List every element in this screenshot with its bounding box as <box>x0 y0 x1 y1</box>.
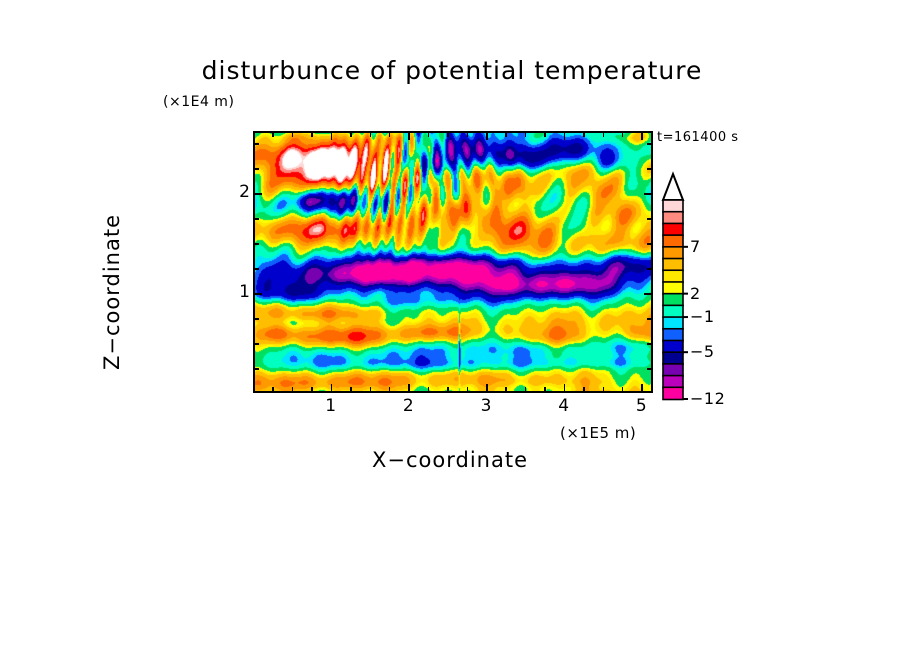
x-tick <box>486 384 488 392</box>
colorbar-swatch <box>663 340 683 352</box>
y-tick <box>254 293 262 295</box>
y-tick <box>254 143 259 145</box>
colorbar-swatch <box>663 364 683 376</box>
colorbar-tick <box>683 246 688 248</box>
y-tick-right <box>644 293 652 295</box>
colorbar[interactable]: 72−1−5−12 <box>660 166 750 406</box>
colorbar-tick-label: −12 <box>690 389 725 408</box>
x-tick-label: 2 <box>388 396 428 416</box>
x-tick <box>603 387 605 392</box>
colorbar-tick <box>683 293 688 295</box>
x-tick-top <box>311 132 313 137</box>
x-tick-top <box>370 132 372 137</box>
time-annotation: t=161400 s <box>657 130 739 145</box>
colorbar-swatch <box>663 247 683 259</box>
x-tick <box>331 384 333 392</box>
contour-plot-area[interactable] <box>253 131 653 393</box>
colorbar-swatch <box>663 352 683 364</box>
y-tick-right <box>647 268 652 270</box>
y-tick <box>254 243 259 245</box>
plot-frame <box>253 131 653 393</box>
y-tick-right <box>647 318 652 320</box>
colorbar-swatch <box>663 294 683 306</box>
x-tick-top <box>447 132 449 137</box>
x-tick-top <box>389 132 391 137</box>
x-tick-top <box>331 132 333 140</box>
colorbar-swatch <box>663 235 683 247</box>
x-tick <box>311 387 313 392</box>
y-tick-right <box>647 343 652 345</box>
x-tick-top <box>525 132 527 137</box>
y-tick-label: 1 <box>228 282 250 302</box>
x-tick <box>525 387 527 392</box>
x-tick <box>544 387 546 392</box>
colorbar-tick-label: 2 <box>690 284 701 303</box>
x-tick <box>408 384 410 392</box>
y-tick <box>254 193 262 195</box>
y-tick <box>254 368 259 370</box>
page-title: disturbunce of potential temperature <box>0 56 904 85</box>
colorbar-swatch <box>663 223 683 235</box>
y-tick-right <box>647 143 652 145</box>
y-axis-units-label: (×1E4 m) <box>163 94 234 110</box>
y-tick-label: 2 <box>228 182 250 202</box>
x-tick-top <box>505 132 507 137</box>
x-tick-top <box>583 132 585 137</box>
x-tick-top <box>428 132 430 137</box>
x-tick-top <box>350 132 352 137</box>
colorbar-swatch <box>663 387 683 399</box>
x-tick <box>292 387 294 392</box>
y-tick-right <box>644 193 652 195</box>
x-tick <box>389 387 391 392</box>
colorbar-swatch <box>663 200 683 212</box>
x-tick-top <box>603 132 605 137</box>
x-tick-top <box>486 132 488 140</box>
colorbar-swatch <box>663 305 683 317</box>
x-tick-label: 1 <box>311 396 351 416</box>
x-axis-units-label: (×1E5 m) <box>560 424 636 442</box>
x-tick-top <box>622 132 624 137</box>
colorbar-swatch <box>663 282 683 294</box>
x-tick-top <box>408 132 410 140</box>
x-tick <box>505 387 507 392</box>
colorbar-swatch <box>663 259 683 271</box>
colorbar-swatch <box>663 270 683 282</box>
colorbar-tick <box>683 398 688 400</box>
x-tick-label: 5 <box>621 396 661 416</box>
y-tick <box>254 168 259 170</box>
x-tick-top <box>564 132 566 140</box>
y-tick <box>254 268 259 270</box>
x-tick <box>370 387 372 392</box>
x-tick-top <box>272 132 274 137</box>
x-tick <box>564 384 566 392</box>
x-tick <box>447 387 449 392</box>
colorbar-swatch <box>663 212 683 224</box>
x-tick <box>428 387 430 392</box>
x-tick-top <box>641 132 643 140</box>
colorbar-swatch <box>663 329 683 341</box>
x-tick <box>641 384 643 392</box>
colorbar-swatch <box>663 317 683 329</box>
y-tick-right <box>647 243 652 245</box>
x-axis-title: X−coordinate <box>280 448 620 472</box>
colorbar-swatch <box>663 376 683 388</box>
x-tick <box>583 387 585 392</box>
colorbar-arrow-tip <box>663 174 683 200</box>
x-tick <box>622 387 624 392</box>
y-tick <box>254 218 259 220</box>
colorbar-tick-label: −5 <box>690 342 715 361</box>
x-tick-label: 4 <box>544 396 584 416</box>
x-tick-top <box>467 132 469 137</box>
x-tick <box>467 387 469 392</box>
colorbar-tick-label: 7 <box>690 237 701 256</box>
y-tick <box>254 343 259 345</box>
y-tick-right <box>647 218 652 220</box>
y-tick-right <box>647 368 652 370</box>
colorbar-swatches <box>660 166 750 406</box>
colorbar-tick-label: −1 <box>690 307 715 326</box>
x-tick-top <box>292 132 294 137</box>
colorbar-tick <box>683 316 688 318</box>
y-tick <box>254 318 259 320</box>
y-axis-title: Z−coordinate <box>100 162 124 422</box>
colorbar-tick <box>683 351 688 353</box>
x-tick-top <box>544 132 546 137</box>
x-tick-label: 3 <box>466 396 506 416</box>
y-tick-right <box>647 168 652 170</box>
x-tick <box>350 387 352 392</box>
x-tick <box>272 387 274 392</box>
